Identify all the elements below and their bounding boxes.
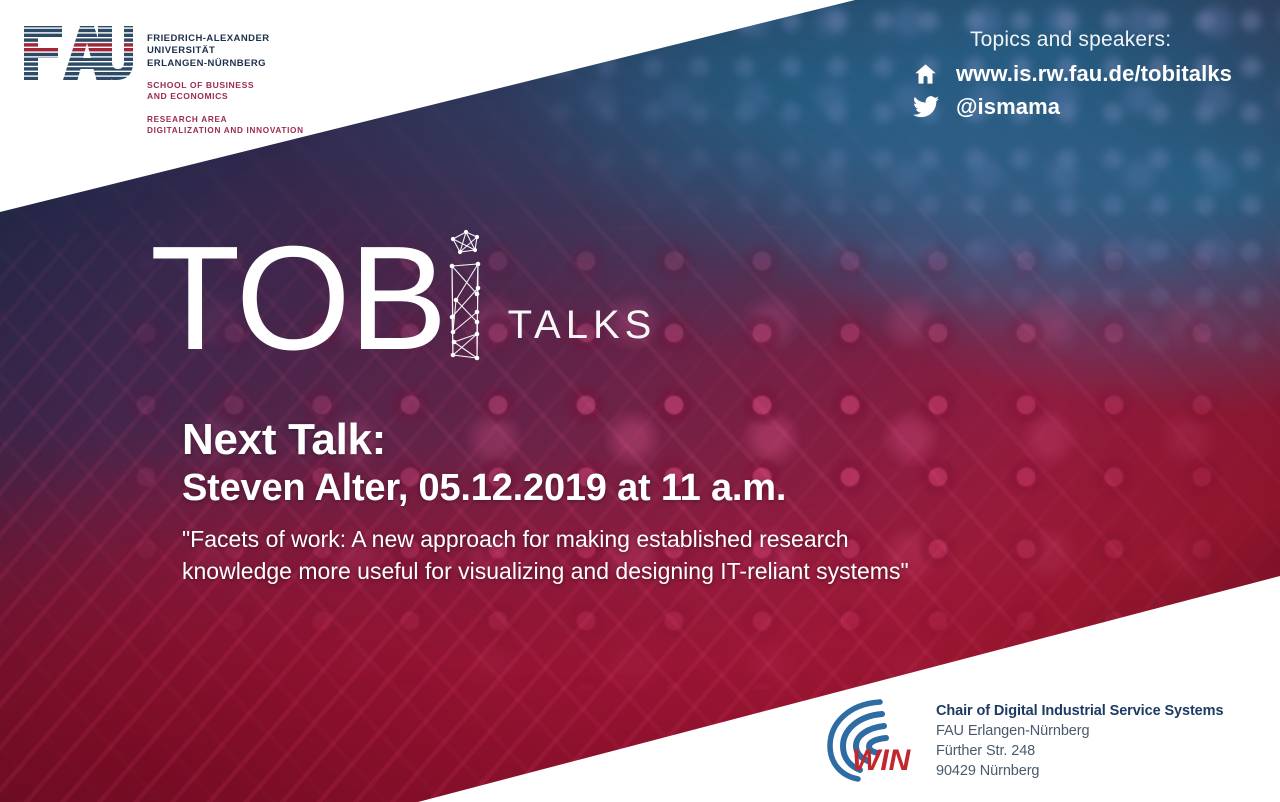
research-area-line-1: RESEARCH AREA bbox=[147, 114, 304, 125]
talk-title-line-1: "Facets of work: A new approach for maki… bbox=[182, 523, 909, 555]
twitter-row[interactable]: @ismama bbox=[910, 94, 1232, 120]
institution-name: FAU Erlangen-Nürnberg bbox=[936, 721, 1223, 741]
school-line-1: SCHOOL OF BUSINESS bbox=[147, 80, 304, 91]
tobi-talks-wordmark: TOB bbox=[150, 222, 656, 360]
fau-logo-icon bbox=[22, 24, 134, 82]
win-logo-icon: WIN bbox=[822, 694, 918, 782]
home-icon bbox=[910, 61, 942, 87]
website-url[interactable]: www.is.rw.fau.de/tobitalks bbox=[956, 61, 1232, 87]
chair-name: Chair of Digital Industrial Service Syst… bbox=[936, 702, 1223, 721]
wordmark-text: TOB bbox=[150, 238, 446, 360]
city-address: 90429 Nürnberg bbox=[936, 761, 1223, 781]
fau-text-block: FRIEDRICH-ALEXANDER UNIVERSITÄT ERLANGEN… bbox=[147, 24, 304, 136]
contact-heading: Topics and speakers: bbox=[970, 28, 1232, 52]
footer-address: Chair of Digital Industrial Service Syst… bbox=[936, 694, 1223, 781]
school-line-2: AND ECONOMICS bbox=[147, 91, 304, 102]
research-area-line-2: DIGITALIZATION AND INNOVATION bbox=[147, 125, 304, 136]
wordmark-subtitle: TALKS bbox=[508, 303, 657, 348]
street-address: Fürther Str. 248 bbox=[936, 741, 1223, 761]
footer-block: WIN Chair of Digital Industrial Service … bbox=[822, 694, 1223, 782]
website-row[interactable]: www.is.rw.fau.de/tobitalks bbox=[910, 61, 1232, 87]
poster-canvas: FRIEDRICH-ALEXANDER UNIVERSITÄT ERLANGEN… bbox=[0, 0, 1280, 802]
talk-title-line-2: knowledge more useful for visualizing an… bbox=[182, 555, 909, 587]
university-name-line-1: FRIEDRICH-ALEXANDER bbox=[147, 33, 304, 45]
svg-text:WIN: WIN bbox=[852, 744, 912, 777]
network-node-i-icon bbox=[444, 222, 494, 362]
university-name-line-3: ERLANGEN-NÜRNBERG bbox=[147, 58, 304, 70]
twitter-handle[interactable]: @ismama bbox=[956, 94, 1060, 120]
fau-branding: FRIEDRICH-ALEXANDER UNIVERSITÄT ERLANGEN… bbox=[22, 24, 304, 136]
headline-next-talk: Next Talk: bbox=[182, 415, 909, 465]
contact-block: Topics and speakers: www.is.rw.fau.de/to… bbox=[910, 28, 1232, 120]
headline-speaker-date: Steven Alter, 05.12.2019 at 11 a.m. bbox=[182, 465, 909, 511]
university-name-line-2: UNIVERSITÄT bbox=[147, 45, 304, 57]
headline-block: Next Talk: Steven Alter, 05.12.2019 at 1… bbox=[182, 415, 909, 587]
twitter-bird-icon bbox=[910, 94, 942, 120]
